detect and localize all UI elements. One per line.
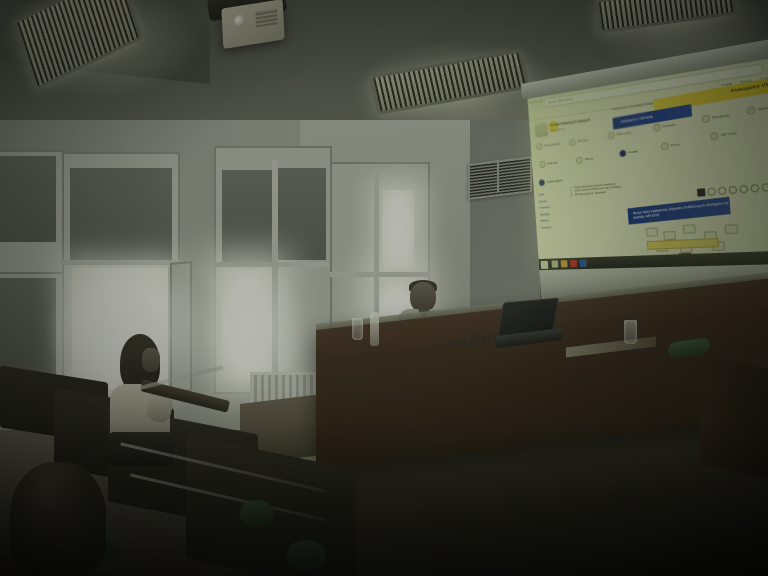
site-tile[interactable]: Dane zbiory [607,129,631,139]
left-link[interactable]: Instytucje [539,205,565,210]
browser-window-controls[interactable] [530,99,542,104]
site-tile[interactable]: Pomoc [661,141,681,151]
site-brand-title: Portal Otwartych Danych [550,118,591,128]
tile-icon [746,106,755,115]
site-text-block: Portal Otwartych Danych udostępnia zbior… [570,182,622,197]
tile-label: Pomoc [671,143,681,147]
attendee-face [142,348,160,372]
site-tile[interactable]: Szukaj danych [538,177,563,186]
attendee-woman [104,334,180,464]
site-tile[interactable]: Wiedza [576,155,594,164]
site-tile[interactable]: SDP rejestr [710,129,738,140]
carousel-dots[interactable] [697,181,768,197]
tile-icon [701,114,710,123]
site-tile[interactable]: Aplikacje [746,104,768,115]
water-bottle [370,312,379,346]
window-daylight-pane [222,270,272,380]
window-blind [70,168,172,264]
left-link[interactable]: Zasoby [539,198,565,203]
lecture-room-photo: gov.pl / dane.gov.pl Szukaj Pomoc Kontak… [0,0,768,576]
left-link[interactable]: Wiedza [540,218,566,223]
tile-icon [539,161,546,169]
left-link[interactable]: Konkursy [541,225,567,230]
news-callout-banner[interactable]: Nowa lista Zakładowy Rejestru Publicznyc… [627,197,730,225]
window-blind [278,168,326,260]
presenter-head [410,282,436,312]
start-button-icon[interactable] [541,260,549,268]
tile-icon [661,142,669,151]
left-link[interactable]: Dane [539,191,565,196]
tile-label: API GUS [578,139,589,144]
attendee-foreground-head [10,462,106,576]
tile-icon [569,139,576,147]
site-left-link-list[interactable]: Dane Zasoby Instytucje Aplikacje Wiedza … [539,191,567,233]
site-tile[interactable]: Materiały [539,159,558,168]
tile-icon [536,143,543,151]
projector-vents [255,8,278,28]
tile-icon [653,123,661,132]
site-tile[interactable]: Instytucje [653,121,676,132]
tile-label: SDP rejestr [721,132,738,137]
ventilation-grille-divider [497,160,499,192]
tile-label: Materiały [547,161,557,165]
window-mullion [60,260,180,265]
tile-icon [710,132,719,141]
projector-lens-icon [234,14,246,28]
window-mullion [272,160,278,392]
window-blind [222,170,272,262]
seat-cushion[interactable] [286,540,326,570]
tile-label: Dane zbiory [617,131,632,136]
site-tile[interactable]: Wizualizacje [701,112,730,124]
left-link[interactable]: Aplikacje [540,212,566,217]
news-callout-label: Nowa lista Zakładowy Rejestru Publicznyc… [633,200,730,220]
tile-label: Aplikacje [758,106,768,111]
tile-label: Wiedza [585,157,594,161]
window-daylight-pane [382,190,414,268]
tile-label: Szukaj danych [544,142,560,147]
tile-icon [538,179,545,187]
site-tile[interactable]: Szukaj danych [536,141,561,151]
tile-icon [576,156,583,164]
taskbar-app-icons[interactable] [551,260,586,268]
tile-label: Kontakt [628,150,638,154]
site-brand-subtitle: dane.gov.pl [550,127,564,133]
tile-label: Wizualizacje [712,114,730,120]
seat-cushion[interactable] [240,500,274,526]
projection-screen[interactable]: gov.pl / dane.gov.pl Szukaj Pomoc Kontak… [527,55,768,288]
tile-label: Instytucje [663,123,676,128]
window-blind [0,278,56,378]
tile-icon [619,149,627,157]
tile-icon [607,131,615,139]
window-mullion [212,262,334,267]
site-tile[interactable]: Kontakt [619,148,638,158]
water-glass-left [352,318,363,340]
solidarity-button-label: Solidarni z Ukrainą [621,114,653,124]
tile-label: Szukaj danych [547,179,563,184]
site-logo [535,122,549,138]
window-blind [0,156,56,242]
site-tile[interactable]: API GUS [569,137,589,147]
window-mullion [330,272,430,277]
desk-side-panel [700,355,768,479]
